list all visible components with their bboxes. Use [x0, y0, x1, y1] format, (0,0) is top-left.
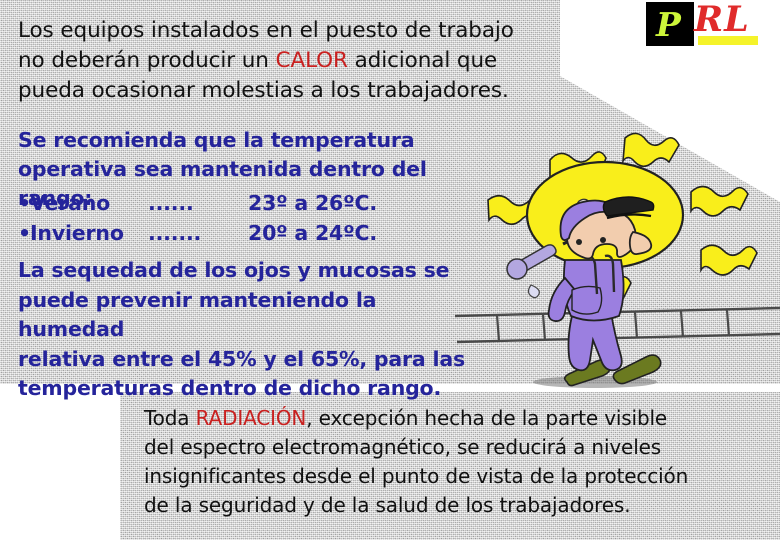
logo-letters-rl: RL	[694, 0, 750, 41]
range-value: 20º a 24ºC.	[248, 218, 377, 248]
radiation-line-3: insignificantes desde el punto de vista …	[144, 464, 688, 488]
logo-letter-p: P	[656, 5, 681, 45]
season-label: Verano	[30, 188, 148, 218]
range-value: 23º a 26ºC.	[248, 188, 377, 218]
temperature-line-1: Se recomienda que la temperatura	[18, 128, 414, 152]
list-item: • Verano ...... 23º a 26ºC.	[18, 188, 438, 218]
paragraph-heat: Los equipos instalados en el puesto de t…	[18, 16, 554, 106]
leader-dots: ......	[148, 188, 248, 218]
list-item: • Invierno ....... 20º a 24ºC.	[18, 218, 438, 248]
heat-line-1: Los equipos instalados en el puesto de t…	[18, 18, 514, 43]
thermometer-icon	[507, 245, 556, 298]
humidity-line-2: puede prevenir manteniendo la humedad	[18, 288, 376, 342]
radiation-keyword-radiacion: RADIACIÓN	[196, 406, 307, 430]
heat-line-3: pueda ocasionar molestias a los trabajad…	[18, 78, 509, 103]
bullet-icon: •	[18, 218, 30, 248]
heat-line-2-b: adicional que	[348, 48, 497, 73]
radiation-line-2: del espectro electromagnético, se reduci…	[144, 435, 661, 459]
radiation-line-1-b: , excepción hecha de la parte visible	[306, 406, 667, 430]
season-label: Invierno	[30, 218, 148, 248]
bullet-icon: •	[18, 188, 30, 218]
humidity-line-3: relativa entre el 45% y el 65%, para las	[18, 347, 465, 371]
humidity-line-1: La sequedad de los ojos y mucosas se	[18, 258, 449, 282]
paragraph-humidity: La sequedad de los ojos y mucosas se pue…	[18, 256, 478, 404]
leader-dots: .......	[148, 218, 248, 248]
radiation-line-4: de la seguridad y de la salud de los tra…	[144, 493, 630, 517]
radiation-line-1-a: Toda	[144, 406, 196, 430]
heat-line-2-a: no deberán producir un	[18, 48, 276, 73]
paragraph-radiation: Toda RADIACIÓN, excepción hecha de la pa…	[144, 404, 770, 520]
temperature-range-list: • Verano ...... 23º a 26ºC. • Invierno .…	[18, 188, 438, 248]
prl-logo: P RL	[646, 2, 774, 52]
slide-canvas: Los equipos instalados en el puesto de t…	[0, 0, 780, 540]
illustration-sun-and-worker	[455, 130, 780, 395]
humidity-line-4: temperaturas dentro de dicho rango.	[18, 376, 441, 400]
heat-keyword-calor: CALOR	[276, 48, 348, 73]
